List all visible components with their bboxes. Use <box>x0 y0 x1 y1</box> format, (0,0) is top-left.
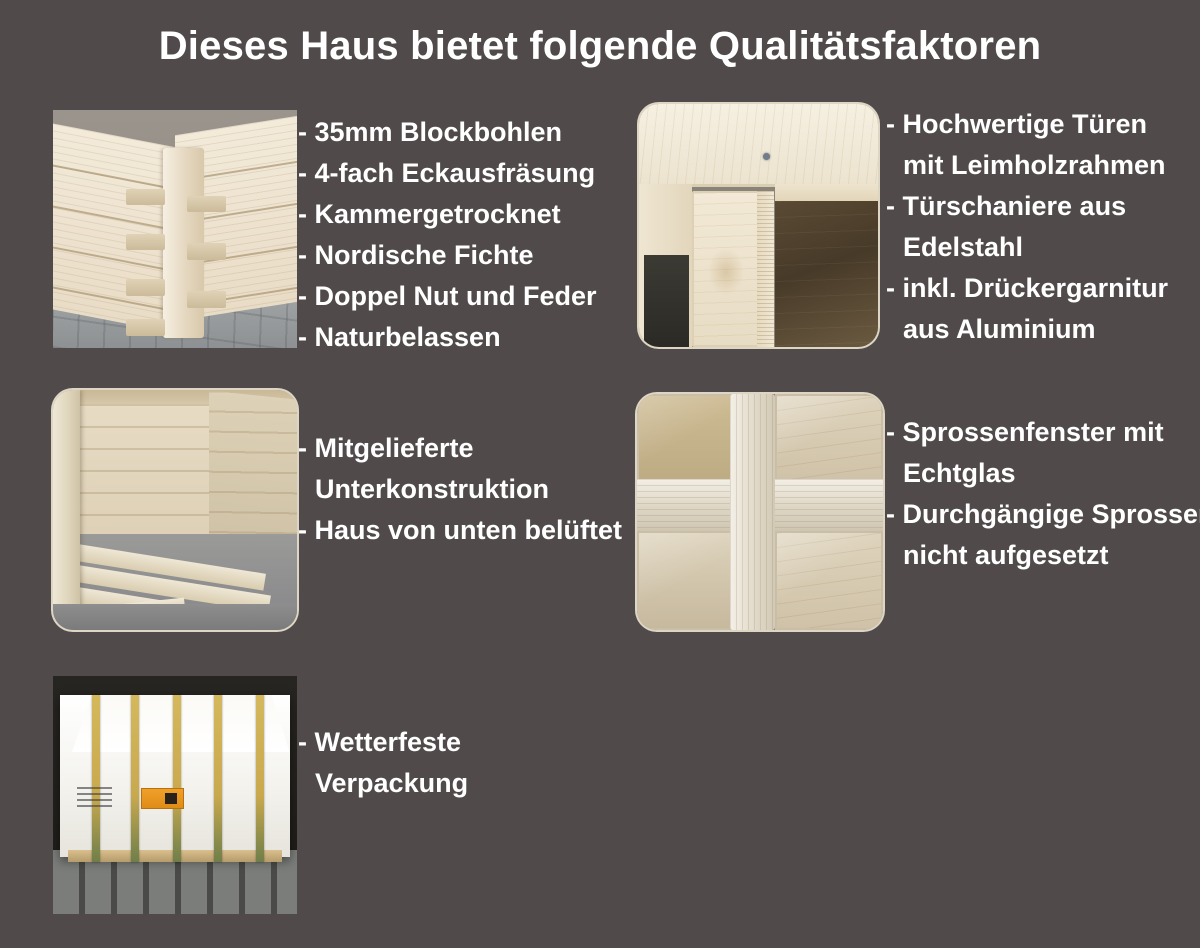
feature-line: aus Aluminium <box>886 309 1168 350</box>
window-muntin-photo <box>637 394 883 630</box>
feature-blockbohlen-text: - 35mm Blockbohlen - 4-fach Eckausfräsun… <box>298 112 596 358</box>
feature-line: mit Leimholzrahmen <box>886 145 1168 186</box>
feature-tueren-text: - Hochwertige Türen mit Leimholzrahmen -… <box>886 104 1168 350</box>
feature-unterkonstruktion-text: - Mitgelieferte Unterkonstruktion - Haus… <box>298 428 622 551</box>
feature-verpackung-text: - Wetterfeste Verpackung <box>298 722 468 804</box>
feature-line: nicht aufgesetzt <box>886 535 1200 576</box>
feature-line: - Hochwertige Türen <box>886 104 1168 145</box>
feature-line: Echtglas <box>886 453 1200 494</box>
feature-line: - Wetterfeste <box>298 722 468 763</box>
feature-line: Edelstahl <box>886 227 1168 268</box>
feature-line: - Mitgelieferte <box>298 428 622 469</box>
feature-line: Verpackung <box>298 763 468 804</box>
log-beam-corner-photo <box>53 110 297 348</box>
feature-line: - 35mm Blockbohlen <box>298 112 596 153</box>
feature-line: - Türschaniere aus <box>886 186 1168 227</box>
interior-floor-joists-photo <box>53 390 297 630</box>
feature-line: - Haus von unten belüftet <box>298 510 622 551</box>
quality-factors-poster: Dieses Haus bietet folgende Qualitätsfak… <box>0 0 1200 948</box>
feature-sprossenfenster-text: - Sprossenfenster mit Echtglas - Durchgä… <box>886 412 1200 576</box>
feature-line: - Sprossenfenster mit <box>886 412 1200 453</box>
packaged-pallet-photo <box>53 676 297 914</box>
feature-line: - Kammergetrocknet <box>298 194 596 235</box>
feature-line: - Naturbelassen <box>298 317 596 358</box>
page-title: Dieses Haus bietet folgende Qualitätsfak… <box>0 24 1200 69</box>
shipping-label <box>141 788 184 809</box>
feature-line: - Durchgängige Sprossen <box>886 494 1200 535</box>
feature-line: - inkl. Drückergarnitur <box>886 268 1168 309</box>
feature-line: - Nordische Fichte <box>298 235 596 276</box>
feature-line: Unterkonstruktion <box>298 469 622 510</box>
door-frame-photo <box>639 104 878 347</box>
feature-line: - 4-fach Eckausfräsung <box>298 153 596 194</box>
feature-line: - Doppel Nut und Feder <box>298 276 596 317</box>
